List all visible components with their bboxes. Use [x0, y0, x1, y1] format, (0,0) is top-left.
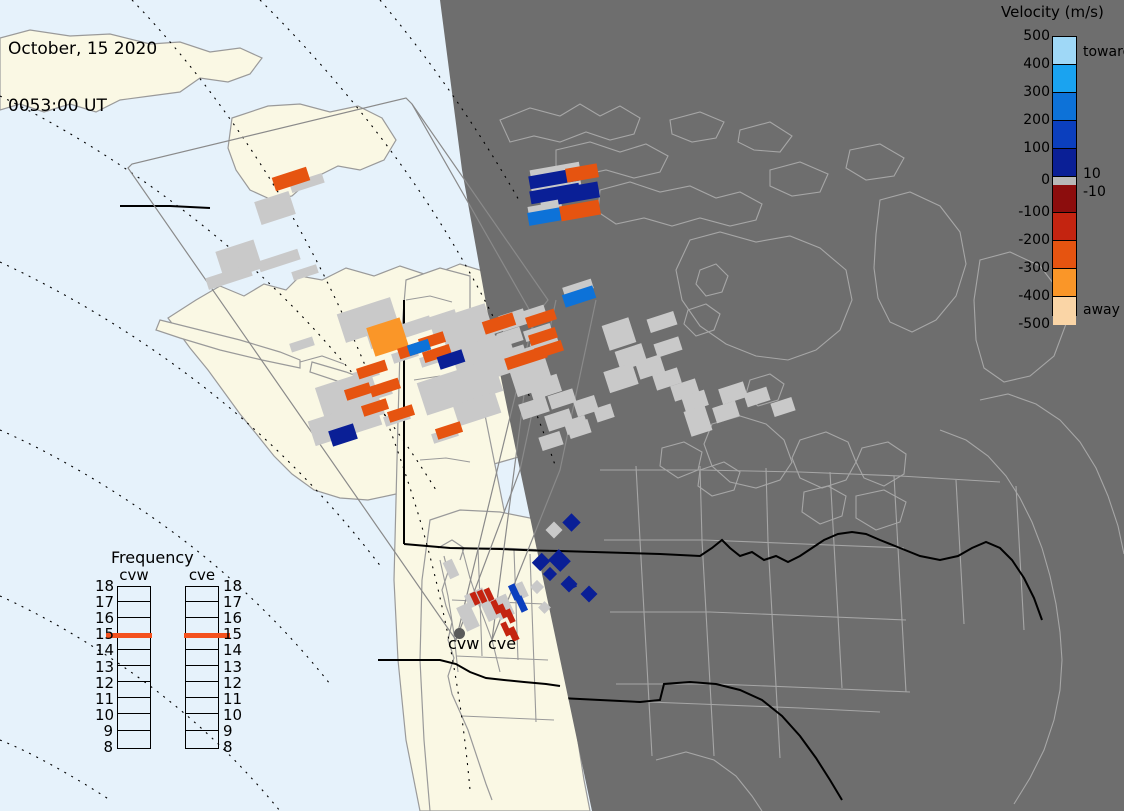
velocity-cell [565, 163, 599, 182]
frequency-row [186, 684, 218, 699]
colorbar-tick-200: 200 [1023, 112, 1050, 128]
colorbar-segment-4 [1053, 149, 1076, 177]
frequency-legend: Frequency cvw cve 1818171716161515141413… [95, 548, 240, 788]
colorbar-segment-10 [1053, 297, 1076, 325]
site-label-cvw: cvw [448, 634, 479, 653]
superdarn-velocity-map: cvw cve October, 15 2020 0053:00 UT Velo… [0, 0, 1124, 811]
frequency-row [186, 651, 218, 666]
colorbar-segment-2 [1053, 93, 1076, 121]
frequency-column-label-cvw: cvw [117, 566, 151, 584]
frequency-row [186, 668, 218, 683]
velocity-cell [328, 423, 358, 446]
colorbar-tick-0: 0 [1041, 172, 1050, 188]
colorbar-tick--500: -500 [1018, 316, 1050, 332]
frequency-row [118, 619, 150, 634]
header-time: 0053:00 UT [8, 97, 157, 116]
frequency-row [118, 603, 150, 618]
colorbar-tick--200: -200 [1018, 232, 1050, 248]
colorbar-tick-100: 100 [1023, 140, 1050, 156]
velocity-cell [525, 309, 557, 329]
colorbar-tick--400: -400 [1018, 288, 1050, 304]
colorbar-tick-300: 300 [1023, 84, 1050, 100]
colorbar-segment-9 [1053, 269, 1076, 297]
colorbar-segment-7 [1053, 213, 1076, 241]
velocity-cell [344, 382, 372, 400]
colorbar-toward-label: toward [1083, 44, 1124, 60]
colorbar-negative-threshold-label: -10 [1083, 184, 1106, 200]
velocity-cell [356, 360, 388, 380]
velocity-cell [515, 595, 528, 612]
site-label-cve: cve [488, 634, 516, 653]
timestamp-header: October, 15 2020 0053:00 UT [8, 2, 157, 154]
colorbar-tick--100: -100 [1018, 204, 1050, 220]
frequency-row [118, 587, 150, 602]
colorbar-swatches [1052, 36, 1077, 316]
frequency-row [186, 587, 218, 602]
velocity-cell [562, 513, 580, 531]
colorbar-tick-500: 500 [1023, 28, 1050, 44]
frequency-row [118, 651, 150, 666]
velocity-cell [272, 167, 311, 191]
colorbar-positive-threshold-label: 10 [1083, 166, 1101, 182]
velocity-cell [562, 285, 596, 307]
frequency-label-left-8: 8 [95, 738, 113, 756]
colorbar-tick-400: 400 [1023, 56, 1050, 72]
frequency-legend-title: Frequency [111, 548, 194, 567]
colorbar-segment-1 [1053, 65, 1076, 93]
frequency-row [118, 684, 150, 699]
frequency-row [186, 603, 218, 618]
velocity-cell [527, 207, 563, 226]
colorbar-away-label: away [1083, 302, 1120, 318]
colorbar-segment-0 [1053, 37, 1076, 65]
frequency-row [186, 619, 218, 634]
frequency-row [118, 700, 150, 715]
frequency-row [118, 732, 150, 747]
frequency-row [186, 732, 218, 747]
frequency-column-label-cve: cve [185, 566, 219, 584]
colorbar-title: Velocity (m/s) [1001, 3, 1104, 21]
frequency-scale-box-cve [185, 586, 219, 749]
velocity-colorbar: Velocity (m/s) 5004003002001000-100-200-… [995, 0, 1124, 330]
colorbar-segment-3 [1053, 121, 1076, 149]
frequency-row [186, 700, 218, 715]
frequency-row [186, 716, 218, 731]
velocity-cell [361, 398, 389, 416]
header-date: October, 15 2020 [8, 40, 157, 59]
frequency-scale-box-cvw [117, 586, 151, 749]
velocity-cell [543, 567, 557, 581]
velocity-cell [581, 586, 598, 603]
velocity-cell [387, 404, 415, 422]
colorbar-segment-6 [1053, 185, 1076, 213]
velocity-cell [435, 421, 463, 439]
colorbar-segment-8 [1053, 241, 1076, 269]
frequency-row [118, 716, 150, 731]
frequency-row [118, 668, 150, 683]
colorbar-segment-5 [1053, 177, 1076, 185]
velocity-cell [369, 378, 401, 398]
velocity-cell [504, 346, 548, 370]
velocity-cell [482, 312, 516, 334]
colorbar-tick--300: -300 [1018, 260, 1050, 276]
frequency-label-right-8: 8 [223, 738, 233, 756]
